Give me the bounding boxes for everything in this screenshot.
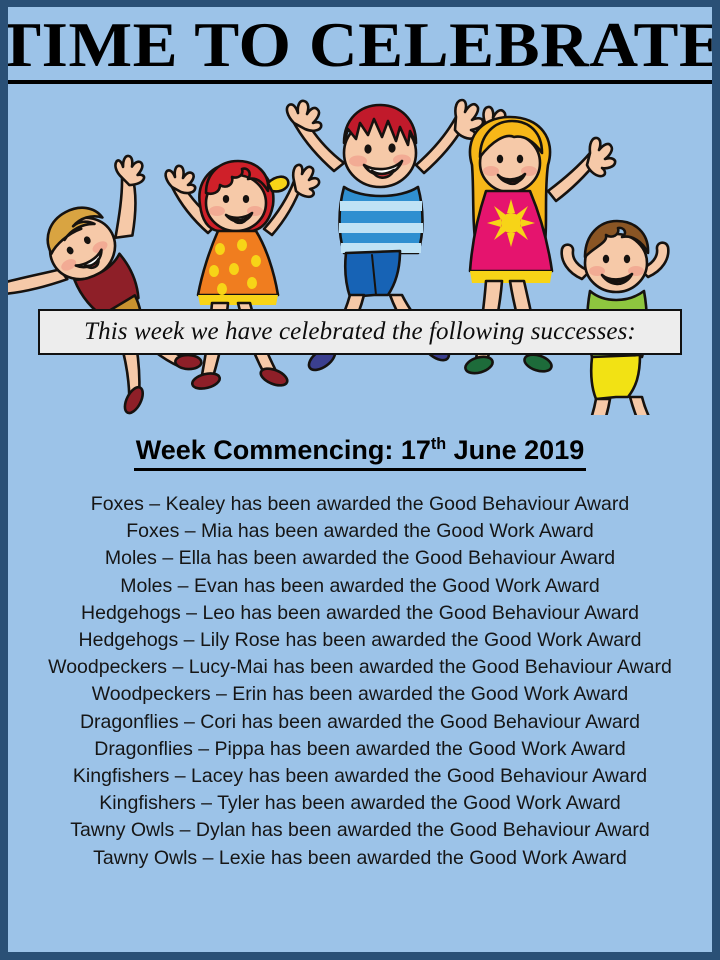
child-blond-boy-maroon [8,151,245,415]
week-commencing-heading: Week Commencing: 17th June 2019 [134,435,586,471]
title-block: TIME TO CELEBRATE [8,13,712,84]
award-line: Moles – Ella has been awarded the Good B… [8,545,712,572]
award-line: Hedgehogs – Lily Rose has been awarded t… [8,627,712,654]
award-line: Moles – Evan has been awarded the Good W… [8,573,712,600]
award-line: Kingfishers – Lacey has been awarded the… [8,763,712,790]
award-line: Kingfishers – Tyler has been awarded the… [8,790,712,817]
award-line: Tawny Owls – Lexie has been awarded the … [8,845,712,872]
banner-text: This week we have celebrated the followi… [84,318,636,346]
award-line: Foxes – Mia has been awarded the Good Wo… [8,518,712,545]
week-ordinal-suffix: th [431,435,446,453]
week-commencing-rest: June 2019 [446,435,584,465]
child-redhair-girl-orange [166,161,320,391]
children-clipart-svg [8,85,712,415]
awards-list: Foxes – Kealey has been awarded the Good… [8,491,712,872]
celebration-banner: This week we have celebrated the followi… [38,309,682,355]
award-line: Foxes – Kealey has been awarded the Good… [8,491,712,518]
jumping-children-illustration [8,85,712,415]
award-line: Dragonflies – Cori has been awarded the … [8,709,712,736]
award-line: Hedgehogs – Leo has been awarded the Goo… [8,600,712,627]
award-line: Woodpeckers – Lucy-Mai has been awarded … [8,654,712,681]
poster-inner-panel: TIME TO CELEBRATE [8,7,712,952]
award-line: Dragonflies – Pippa has been awarded the… [8,736,712,763]
week-commencing-label: Week Commencing: 17 [136,435,431,465]
week-commencing-block: Week Commencing: 17th June 2019 [8,435,712,471]
page-title: TIME TO CELEBRATE [8,13,712,84]
celebration-poster: TIME TO CELEBRATE [0,0,720,960]
award-line: Tawny Owls – Dylan has been awarded the … [8,817,712,844]
award-line: Woodpeckers – Erin has been awarded the … [8,681,712,708]
